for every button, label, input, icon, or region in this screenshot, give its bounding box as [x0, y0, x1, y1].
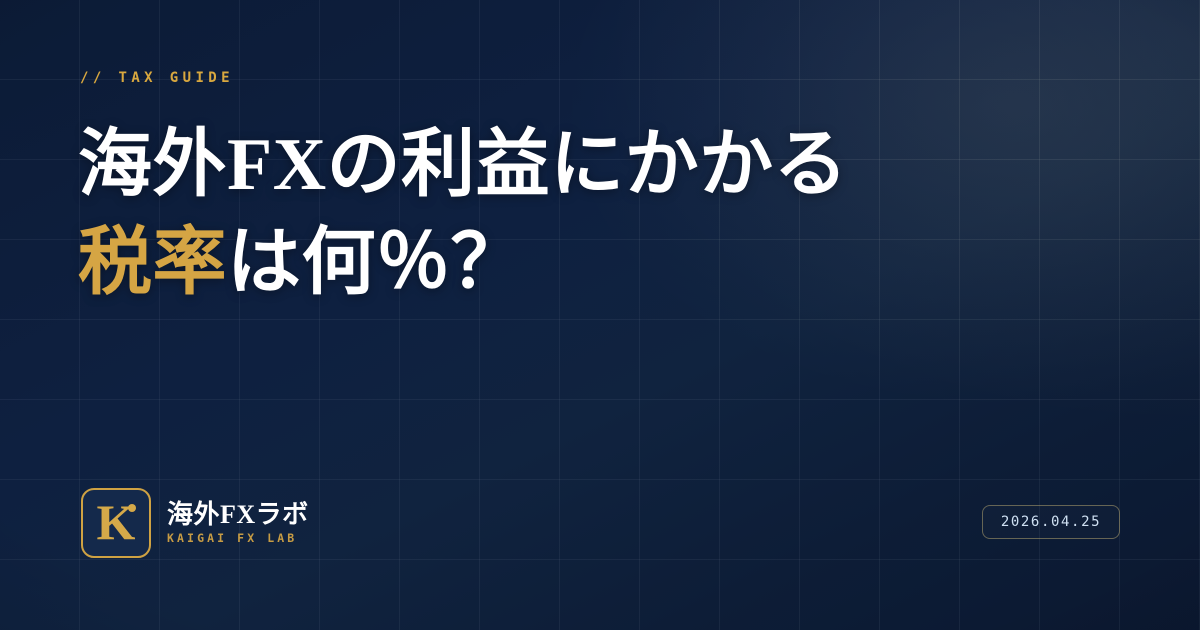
publish-date-value: 2026.04.25 — [1001, 514, 1101, 530]
headline-line-1: 海外FXの利益にかかる — [78, 116, 1078, 214]
brand-name-en: KAIGAI FX LAB — [167, 531, 309, 545]
headline-accent-text: 税率 — [78, 222, 227, 304]
og-image-canvas: // TAX GUIDE 海外FXの利益にかかる 税率は何％？ K 海外FXラボ… — [0, 0, 1200, 630]
headline-rest-text: は何％？ — [227, 222, 525, 304]
publish-date-badge: 2026.04.25 — [982, 505, 1120, 539]
eyebrow-label: // TAX GUIDE — [80, 70, 234, 86]
page-title: 海外FXの利益にかかる 税率は何％？ — [78, 116, 1078, 312]
brand-lockup: K 海外FXラボ KAIGAI FX LAB — [81, 488, 309, 558]
headline-line-2: 税率は何％？ — [78, 214, 1078, 312]
brand-logo-dot-icon — [128, 504, 136, 512]
brand-name-jp: 海外FXラボ — [167, 501, 309, 530]
brand-text-block: 海外FXラボ KAIGAI FX LAB — [167, 501, 309, 546]
brand-logo-mark: K — [81, 488, 151, 558]
